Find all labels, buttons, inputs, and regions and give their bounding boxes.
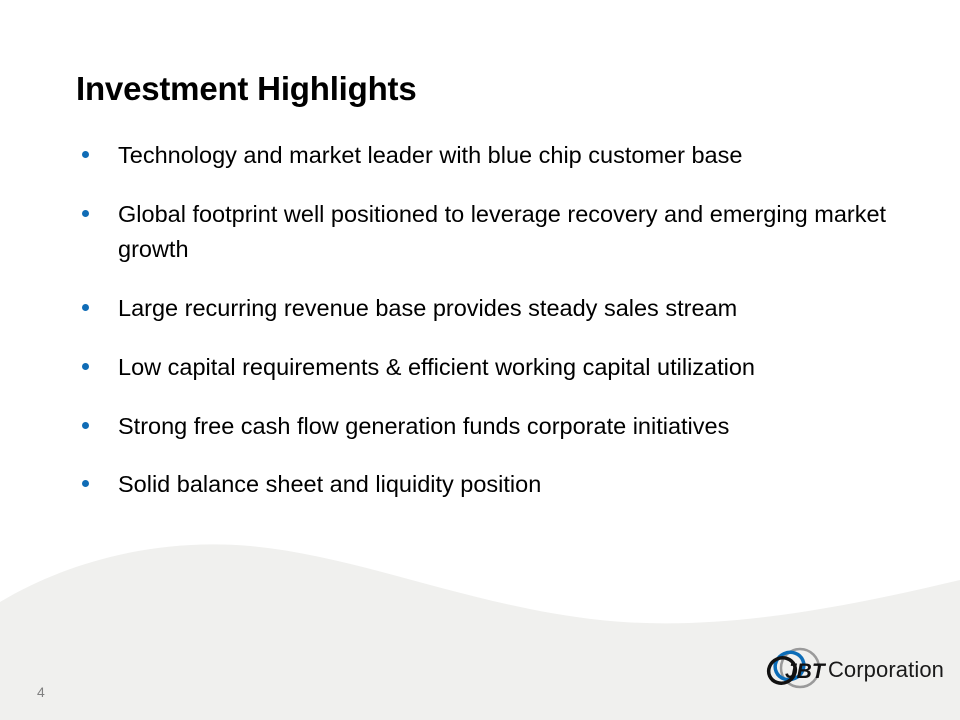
list-item-label: Solid balance sheet and liquidity positi…	[118, 467, 932, 503]
jbt-rings-icon: JBT	[762, 642, 826, 698]
list-item-label: Large recurring revenue base provides st…	[118, 291, 932, 327]
list-item: Technology and market leader with blue c…	[76, 138, 932, 174]
bullet-dot-icon	[82, 210, 89, 217]
list-item-label: Strong free cash flow generation funds c…	[118, 409, 932, 445]
list-item: Solid balance sheet and liquidity positi…	[76, 467, 932, 503]
list-item: Low capital requirements & efficient wor…	[76, 350, 932, 386]
svg-text:JBT: JBT	[785, 660, 826, 683]
list-item: Large recurring revenue base provides st…	[76, 291, 932, 327]
list-item: Strong free cash flow generation funds c…	[76, 409, 932, 445]
bullet-dot-icon	[82, 304, 89, 311]
bullet-dot-icon	[82, 151, 89, 158]
bullet-dot-icon	[82, 422, 89, 429]
logo-wordmark: Corporation	[828, 657, 944, 683]
list-item: Global footprint well positioned to leve…	[76, 197, 932, 268]
list-item-label: Technology and market leader with blue c…	[118, 138, 932, 174]
bullet-dot-icon	[82, 363, 89, 370]
list-item-label: Low capital requirements & efficient wor…	[118, 350, 932, 386]
bullet-dot-icon	[82, 480, 89, 487]
bullet-list: Technology and market leader with blue c…	[76, 138, 932, 503]
slide-number: 4	[37, 684, 45, 700]
page-title: Investment Highlights	[76, 70, 896, 108]
presentation-slide: Investment Highlights Technology and mar…	[0, 0, 960, 720]
list-item-label: Global footprint well positioned to leve…	[118, 197, 932, 268]
jbt-corporation-logo: JBT Corporation	[762, 642, 944, 698]
